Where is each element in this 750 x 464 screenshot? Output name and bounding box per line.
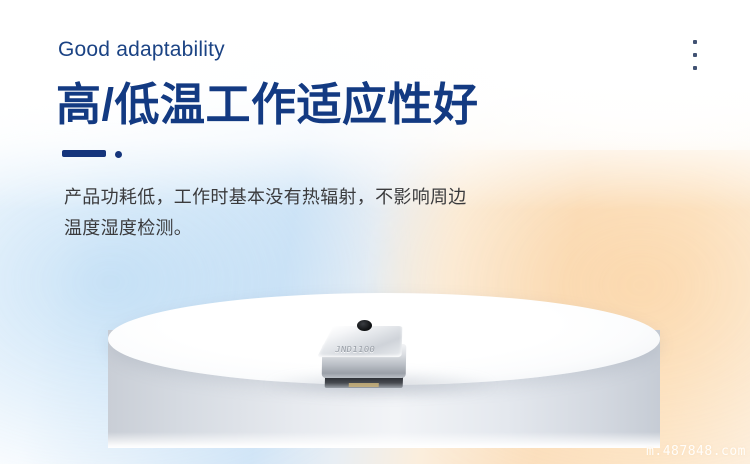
accent-bar (62, 150, 106, 157)
kebab-dot-top (693, 40, 697, 44)
product-feature-slide: JND1100 Good adaptability 高/低温工作适应性好 产品功… (0, 0, 750, 464)
microphone-port-icon (357, 320, 372, 331)
slide-eyebrow: Good adaptability (58, 38, 225, 62)
product-sensor-module: JND1100 (322, 314, 406, 392)
accent-dot (115, 151, 122, 158)
site-watermark: m.487848.com (646, 444, 746, 459)
slide-headline: 高/低温工作适应性好 (56, 79, 479, 131)
body-line-2: 温度湿度检测。 (64, 213, 604, 244)
device-contact-pad (349, 383, 379, 387)
device-model-label: JND1100 (334, 345, 375, 354)
slide-body-copy: 产品功耗低，工作时基本没有热辐射，不影响周边 温度湿度检测。 (64, 182, 604, 244)
kebab-dot-bottom (693, 66, 697, 70)
body-line-1: 产品功耗低，工作时基本没有热辐射，不影响周边 (64, 182, 604, 213)
kebab-menu-icon[interactable] (686, 40, 704, 70)
kebab-dot-middle (693, 53, 697, 57)
